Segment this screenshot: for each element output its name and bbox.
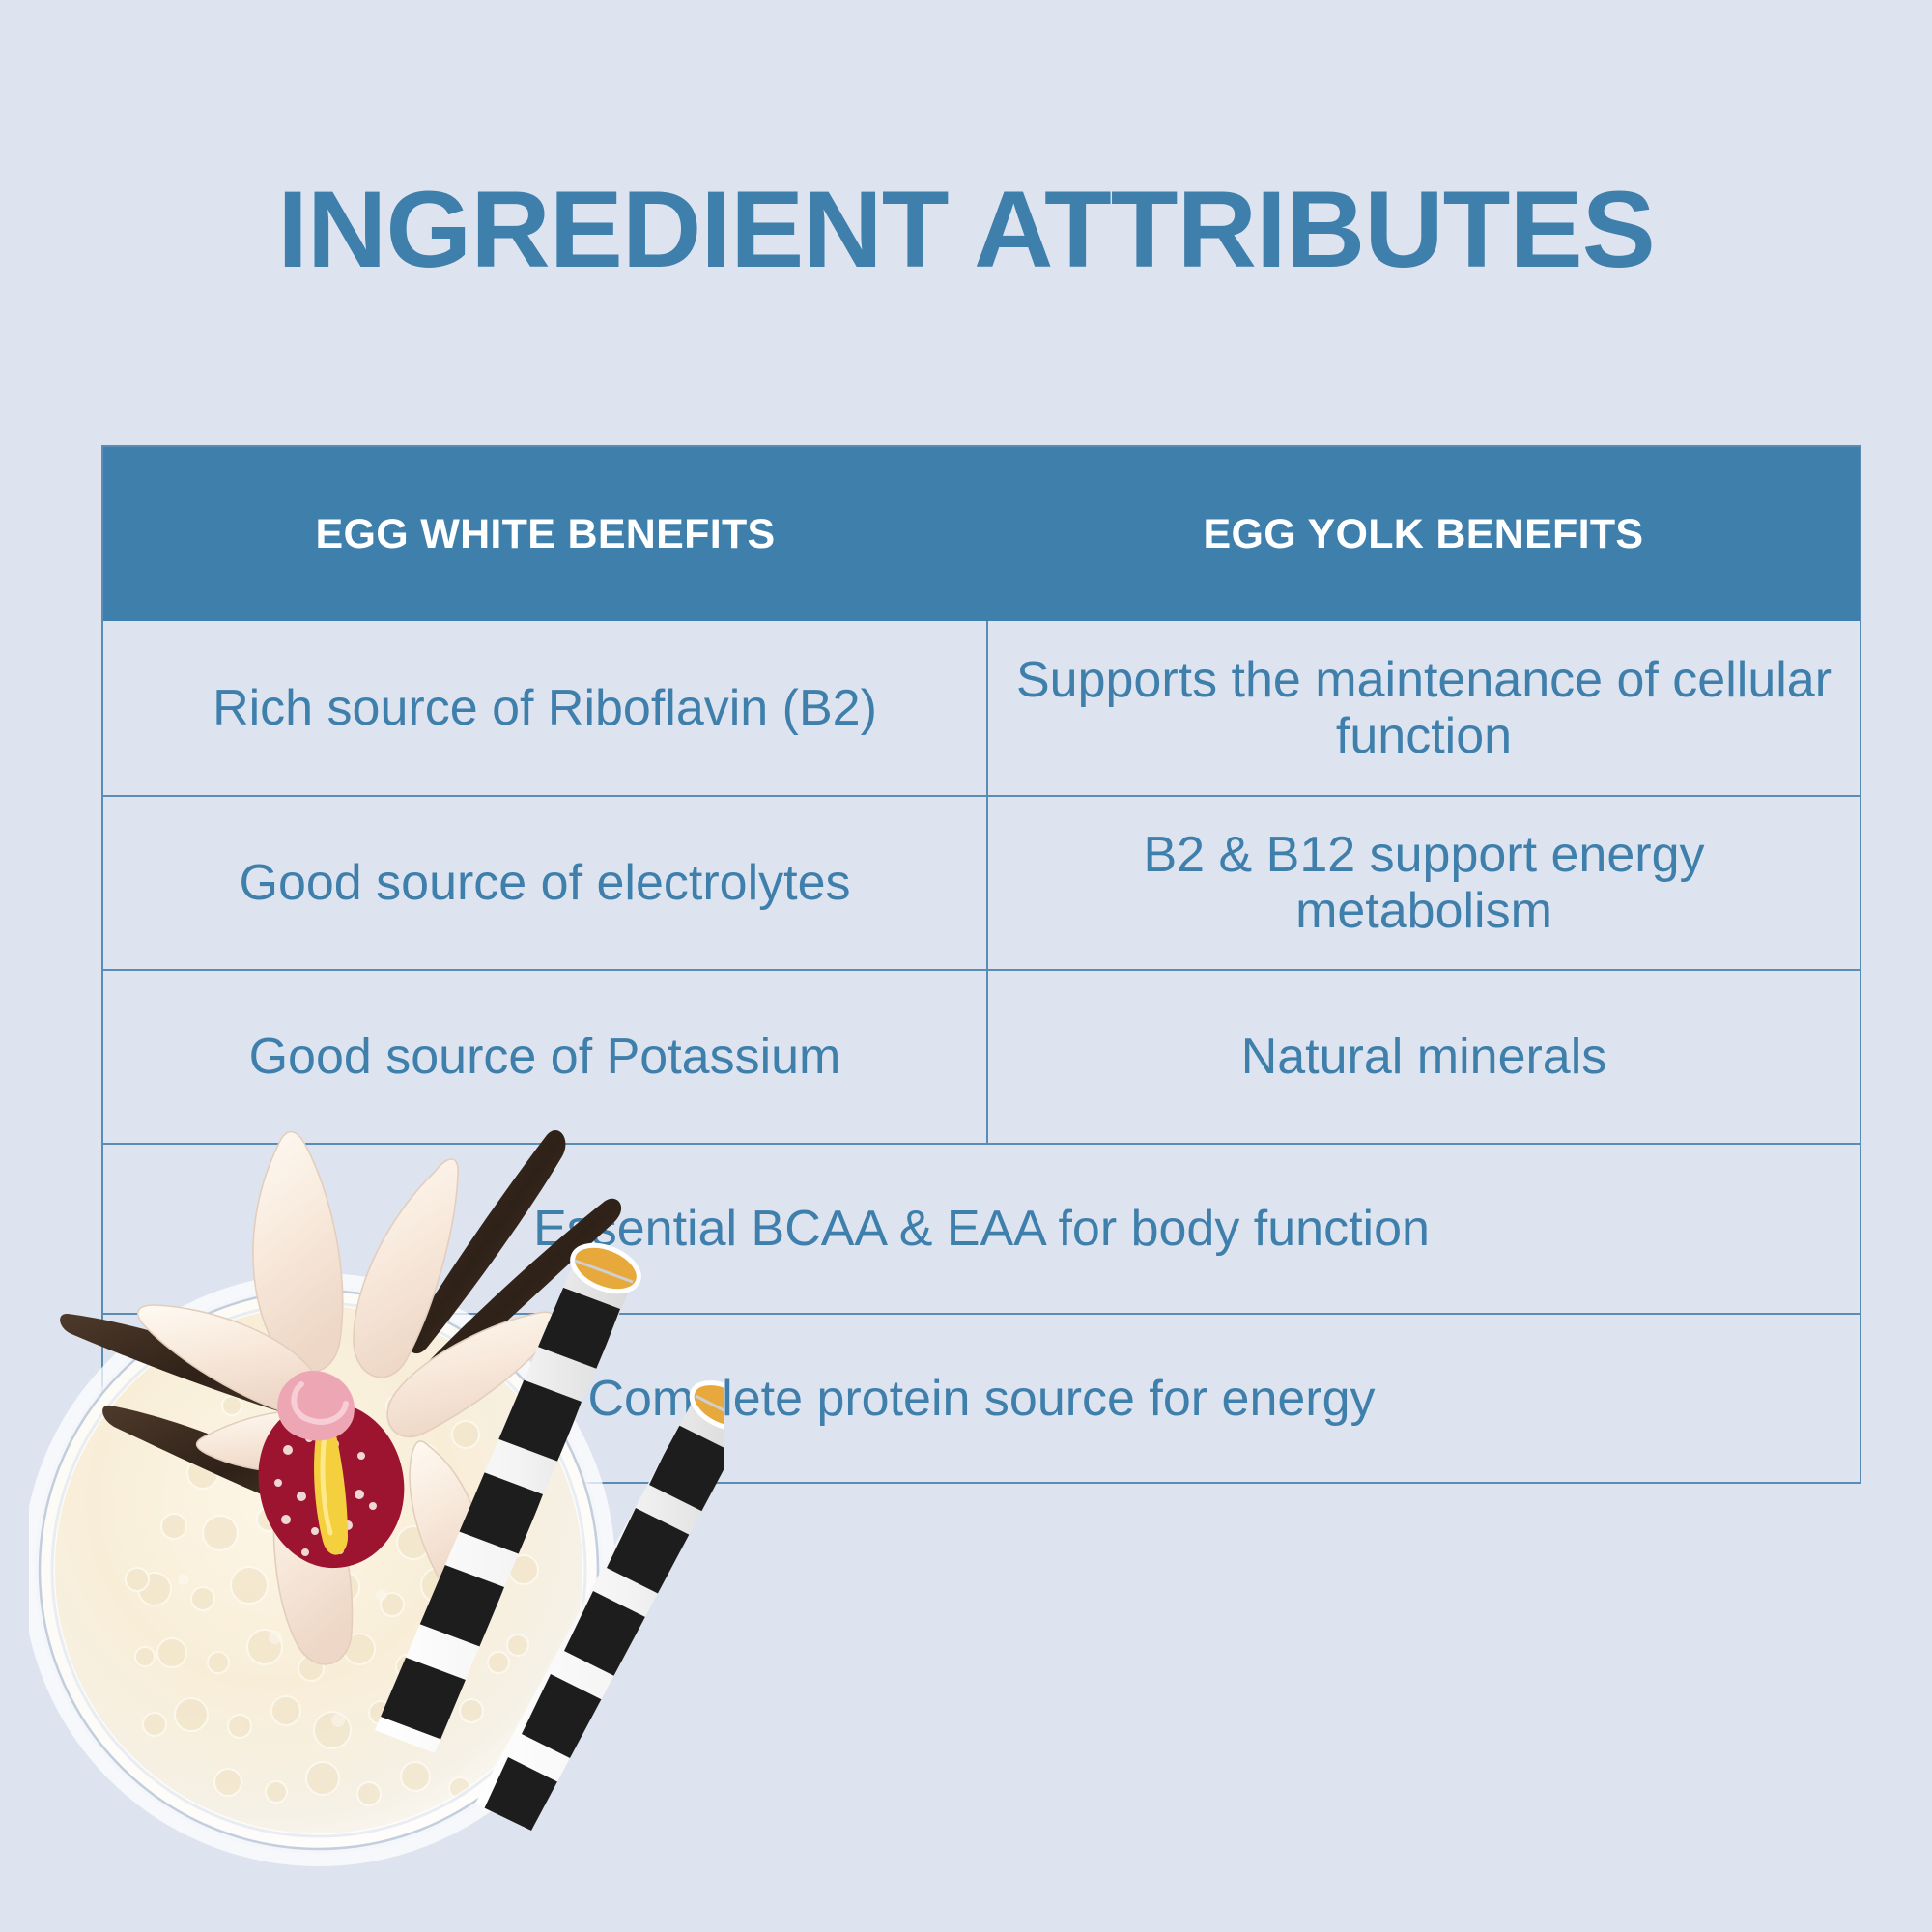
- cell-shared-benefit-1: Essential BCAA & EAA for body function: [103, 1145, 1860, 1313]
- table-row-merged: Essential BCAA & EAA for body function: [103, 1143, 1860, 1313]
- table-row: Rich source of Riboflavin (B2) Supports …: [103, 621, 1860, 795]
- page-title: INGREDIENT ATTRIBUTES: [0, 176, 1932, 284]
- column-header-egg-yolk: EGG YOLK BENEFITS: [987, 447, 1860, 621]
- cell-egg-yolk-benefit-3: Natural minerals: [988, 971, 1860, 1143]
- table-row: Good source of electrolytes B2 & B12 sup…: [103, 795, 1860, 969]
- column-header-egg-white: EGG WHITE BENEFITS: [103, 447, 987, 621]
- cell-egg-yolk-benefit-1: Supports the maintenance of cellular fun…: [988, 621, 1860, 795]
- cell-egg-white-benefit-2: Good source of electrolytes: [103, 797, 988, 969]
- table-body: Rich source of Riboflavin (B2) Supports …: [103, 621, 1860, 1484]
- table-row-merged: Complete protein source for energy: [103, 1313, 1860, 1484]
- benefits-table: EGG WHITE BENEFITS EGG YOLK BENEFITS Ric…: [101, 445, 1861, 1484]
- cell-shared-benefit-2: Complete protein source for energy: [103, 1315, 1860, 1484]
- cell-egg-white-benefit-3: Good source of Potassium: [103, 971, 988, 1143]
- table-row: Good source of Potassium Natural mineral…: [103, 969, 1860, 1143]
- table-header-row: EGG WHITE BENEFITS EGG YOLK BENEFITS: [103, 447, 1860, 621]
- cell-egg-yolk-benefit-2: B2 & B12 support energy metabolism: [988, 797, 1860, 969]
- cell-egg-white-benefit-1: Rich source of Riboflavin (B2): [103, 621, 988, 795]
